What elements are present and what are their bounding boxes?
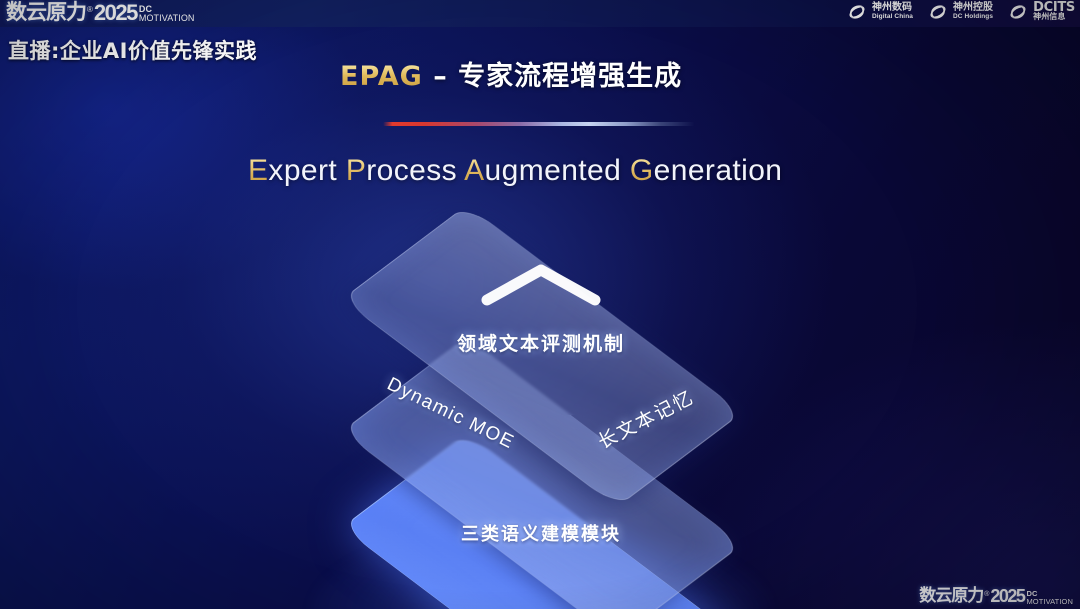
corner-watermark-logo: 数云原力 ® 2025 DC MOTIVATION: [919, 2, 1073, 605]
title-divider-rule: [383, 122, 695, 126]
subtitle-word-augmented: ugmented: [485, 154, 630, 187]
watermark-cn: 数云原力: [919, 588, 983, 605]
diagram-layer-top-label: 领域文本评测机制: [457, 329, 625, 356]
watermark-motivation-text: MOTIVATION: [1026, 598, 1073, 606]
subtitle-word-generation: eneration: [654, 154, 783, 187]
partner-logo-text: 神州数码 Digital China: [872, 3, 913, 21]
title-chinese: 专家流程增强生成: [458, 61, 682, 92]
brand-logo-year: 2025: [94, 2, 137, 23]
subtitle-initial-p: P: [346, 154, 366, 187]
brand-registered-mark: ®: [87, 3, 93, 17]
watermark-year: 2025: [990, 588, 1024, 605]
page-subtitle: Expert Process Augmented Generation: [248, 154, 782, 188]
watermark-dc-motivation: DC MOTIVATION: [1026, 590, 1073, 605]
layered-architecture-diagram: 领域文本评测机制 Dynamic MOE 长文本记忆 三类语义建模模块: [281, 225, 801, 585]
subtitle-initial-e: E: [248, 154, 268, 187]
header-bar: 数云原力 ® 2025 DC MOTIVATION 神州数码 Digital C…: [0, 0, 1080, 27]
subtitle-word-expert: xpert: [268, 154, 345, 187]
subtitle-initial-g: G: [630, 154, 654, 187]
subtitle-initial-a: A: [464, 154, 484, 187]
page-title: EPAG – 专家流程增强生成: [340, 54, 682, 93]
diagram-layer-bottom-label: 三类语义建模模块: [461, 520, 621, 546]
partner-name-cn: 神州数码: [872, 3, 913, 12]
chevron-up-icon: [479, 261, 603, 307]
partner-name-en: Digital China: [872, 12, 913, 21]
title-acronym: EPAG: [340, 61, 423, 92]
title-dash: –: [423, 61, 458, 92]
live-broadcast-label: 直播:企业AI价值先锋实践: [8, 35, 257, 65]
slide-canvas: 数云原力 ® 2025 DC MOTIVATION 神州数码 Digital C…: [0, 0, 1080, 609]
partner-logo-digital-china: 神州数码 Digital China: [846, 1, 913, 23]
brand-motivation-text: MOTIVATION: [139, 14, 195, 23]
brand-logo-cn: 数云原力: [6, 2, 86, 23]
brand-logo: 数云原力 ® 2025 DC MOTIVATION: [6, 2, 195, 23]
swirl-logo-icon: [846, 1, 868, 23]
brand-logo-dc-motivation: DC MOTIVATION: [139, 5, 195, 23]
watermark-registered-mark: ®: [984, 589, 989, 600]
subtitle-word-process: rocess: [366, 154, 464, 187]
